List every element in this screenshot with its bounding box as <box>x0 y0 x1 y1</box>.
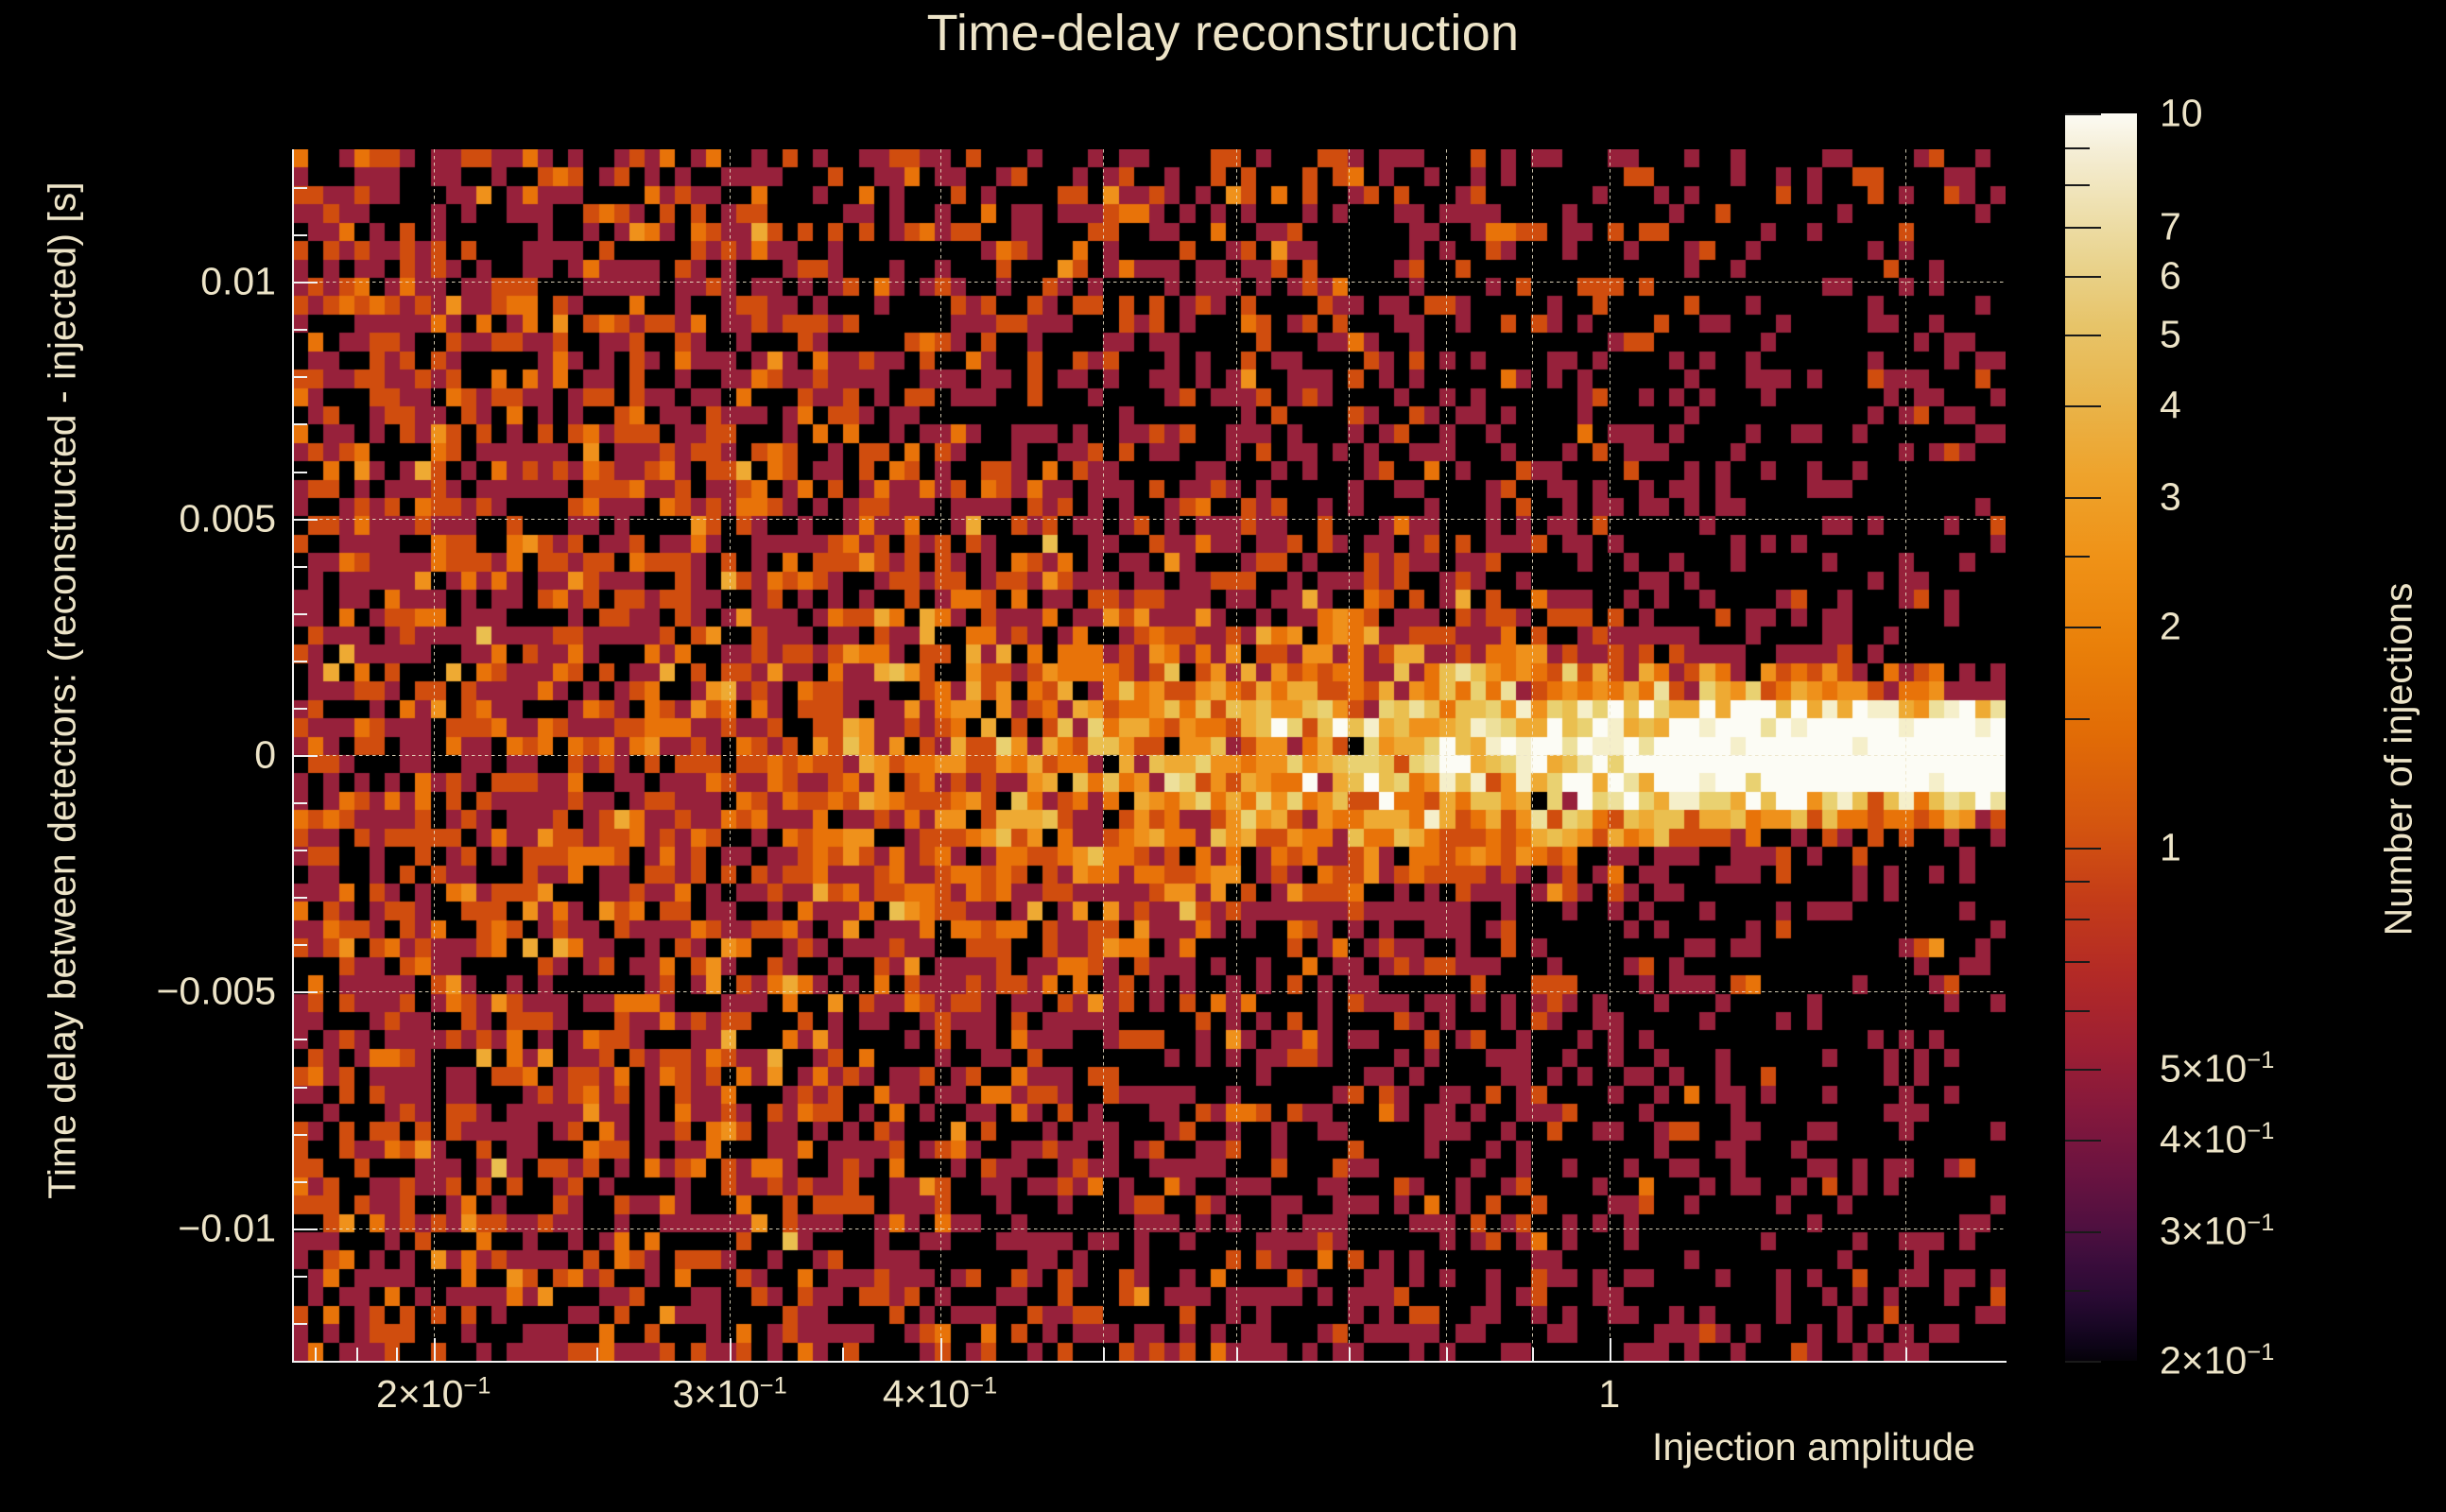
y-tick-label: −0.01 <box>178 1206 276 1250</box>
colorbar-tick-mark <box>2065 227 2101 229</box>
colorbar-tick-mark-minor <box>2065 961 2090 963</box>
y-tick-mark-minor <box>293 850 307 851</box>
y-tick-mark-minor <box>293 1228 307 1230</box>
x-tick-mark-minor <box>396 1348 398 1361</box>
y-tick-mark-minor <box>293 1087 307 1089</box>
colorbar-tick-label: 3×10−1 <box>2160 1210 2274 1254</box>
colorbar-tick-mark-minor <box>2065 1010 2090 1012</box>
colorbar-tick-mark <box>2065 335 2101 336</box>
colorbar-tick-label: 7 <box>2160 205 2181 249</box>
plot-area[interactable] <box>293 149 2006 1361</box>
x-tick-mark <box>1610 1338 1611 1361</box>
colorbar-tick-label: 2×10−1 <box>2160 1339 2274 1383</box>
y-tick-mark-minor <box>293 1181 307 1183</box>
colorbar-tick-mark-minor <box>2065 184 2090 186</box>
y-tick-mark-minor <box>293 802 307 804</box>
x-tick-mark-minor <box>596 1348 598 1361</box>
colorbar-tick-mark <box>2065 848 2101 850</box>
colorbar-tick-mark-minor <box>2065 881 2090 883</box>
y-tick-mark-minor <box>293 1134 307 1136</box>
y-tick-mark-minor <box>293 944 307 946</box>
y-tick-label: −0.005 <box>156 970 276 1014</box>
x-tick-mark-minor <box>1905 1348 1907 1361</box>
y-tick-mark-minor <box>293 376 307 378</box>
colorbar-tick-mark <box>2065 497 2101 499</box>
colorbar-tick-mark <box>2065 627 2101 628</box>
colorbar-tick-mark-minor <box>2065 1290 2090 1292</box>
gridline-horizontal <box>293 755 2006 756</box>
x-axis-line <box>292 1361 2007 1363</box>
y-tick-mark-minor <box>293 991 307 993</box>
gridline-horizontal <box>293 991 2006 992</box>
y-tick-mark-minor <box>293 661 307 662</box>
y-tick-mark-minor <box>293 329 307 331</box>
x-tick-mark <box>434 1338 436 1361</box>
gridline-horizontal <box>293 282 2006 283</box>
y-tick-mark <box>293 282 318 283</box>
colorbar-tick-mark-minor <box>2065 147 2090 149</box>
colorbar-tick-label: 5 <box>2160 312 2181 356</box>
x-axis-title: Injection amplitude <box>1652 1425 1975 1469</box>
colorbar-tick-label: 4 <box>2160 384 2181 428</box>
y-tick-mark-minor <box>293 423 307 425</box>
x-tick-mark-minor <box>1236 1348 1238 1361</box>
colorbar[interactable] <box>2065 113 2137 1361</box>
colorbar-tick-label: 5×10−1 <box>2160 1046 2274 1091</box>
gridline-horizontal <box>293 519 2006 520</box>
y-tick-mark-minor <box>293 897 307 899</box>
x-tick-mark-minor <box>1349 1348 1351 1361</box>
y-tick-label: 0.01 <box>200 260 276 304</box>
colorbar-tick-label: 1 <box>2160 825 2181 869</box>
y-tick-mark-minor <box>293 613 307 615</box>
y-tick-mark-minor <box>293 1323 307 1325</box>
x-tick-label: 1 <box>1598 1372 1620 1417</box>
colorbar-tick-mark <box>2065 405 2101 407</box>
colorbar-tick-label: 6 <box>2160 254 2181 299</box>
colorbar-tick-mark <box>2065 1140 2101 1142</box>
y-tick-mark-minor <box>293 472 307 473</box>
y-tick-mark-minor <box>293 1276 307 1278</box>
colorbar-tick-mark <box>2065 1069 2101 1071</box>
colorbar-tick-mark <box>2065 1231 2101 1233</box>
y-axis-title: Time delay between detectors: (reconstru… <box>41 29 85 1352</box>
colorbar-tick-mark-minor <box>2065 718 2090 720</box>
colorbar-gradient <box>2065 113 2137 1361</box>
gridline-horizontal <box>293 1228 2006 1229</box>
y-tick-label: 0 <box>254 733 276 778</box>
colorbar-tick-label: 2 <box>2160 605 2181 649</box>
x-tick-mark-minor <box>1103 1348 1105 1361</box>
colorbar-tick-label: 4×10−1 <box>2160 1118 2274 1162</box>
page-title: Time-delay reconstruction <box>0 4 2446 62</box>
x-tick-label: 4×10−1 <box>883 1372 997 1417</box>
x-tick-label: 2×10−1 <box>376 1372 491 1417</box>
y-tick-mark <box>293 755 318 757</box>
y-tick-mark <box>293 519 318 521</box>
y-tick-mark-minor <box>293 708 307 710</box>
colorbar-tick-mark <box>2065 276 2101 278</box>
y-tick-mark-minor <box>293 566 307 568</box>
colorbar-tick-mark-minor <box>2065 556 2090 558</box>
x-tick-mark-minor <box>315 1348 317 1361</box>
root-canvas: Time-delay reconstruction Time delay bet… <box>0 0 2446 1512</box>
x-tick-mark-minor <box>842 1348 844 1361</box>
x-tick-mark <box>730 1338 732 1361</box>
x-tick-mark-minor <box>356 1348 358 1361</box>
colorbar-tick-label: 3 <box>2160 475 2181 520</box>
colorbar-axis-title: Number of injections <box>2377 372 2421 1147</box>
x-tick-mark-minor <box>1532 1348 1534 1361</box>
colorbar-tick-label: 10 <box>2160 92 2203 136</box>
colorbar-tick-mark <box>2065 113 2101 115</box>
colorbar-tick-mark-minor <box>2065 919 2090 920</box>
y-tick-mark-minor <box>293 187 307 189</box>
colorbar-tick-mark <box>2065 1361 2101 1363</box>
x-tick-mark <box>940 1338 942 1361</box>
y-tick-mark-minor <box>293 1039 307 1040</box>
x-tick-mark-minor <box>1446 1348 1448 1361</box>
x-tick-label: 3×10−1 <box>672 1372 786 1417</box>
y-tick-label: 0.005 <box>179 496 276 541</box>
y-tick-mark-minor <box>293 234 307 236</box>
